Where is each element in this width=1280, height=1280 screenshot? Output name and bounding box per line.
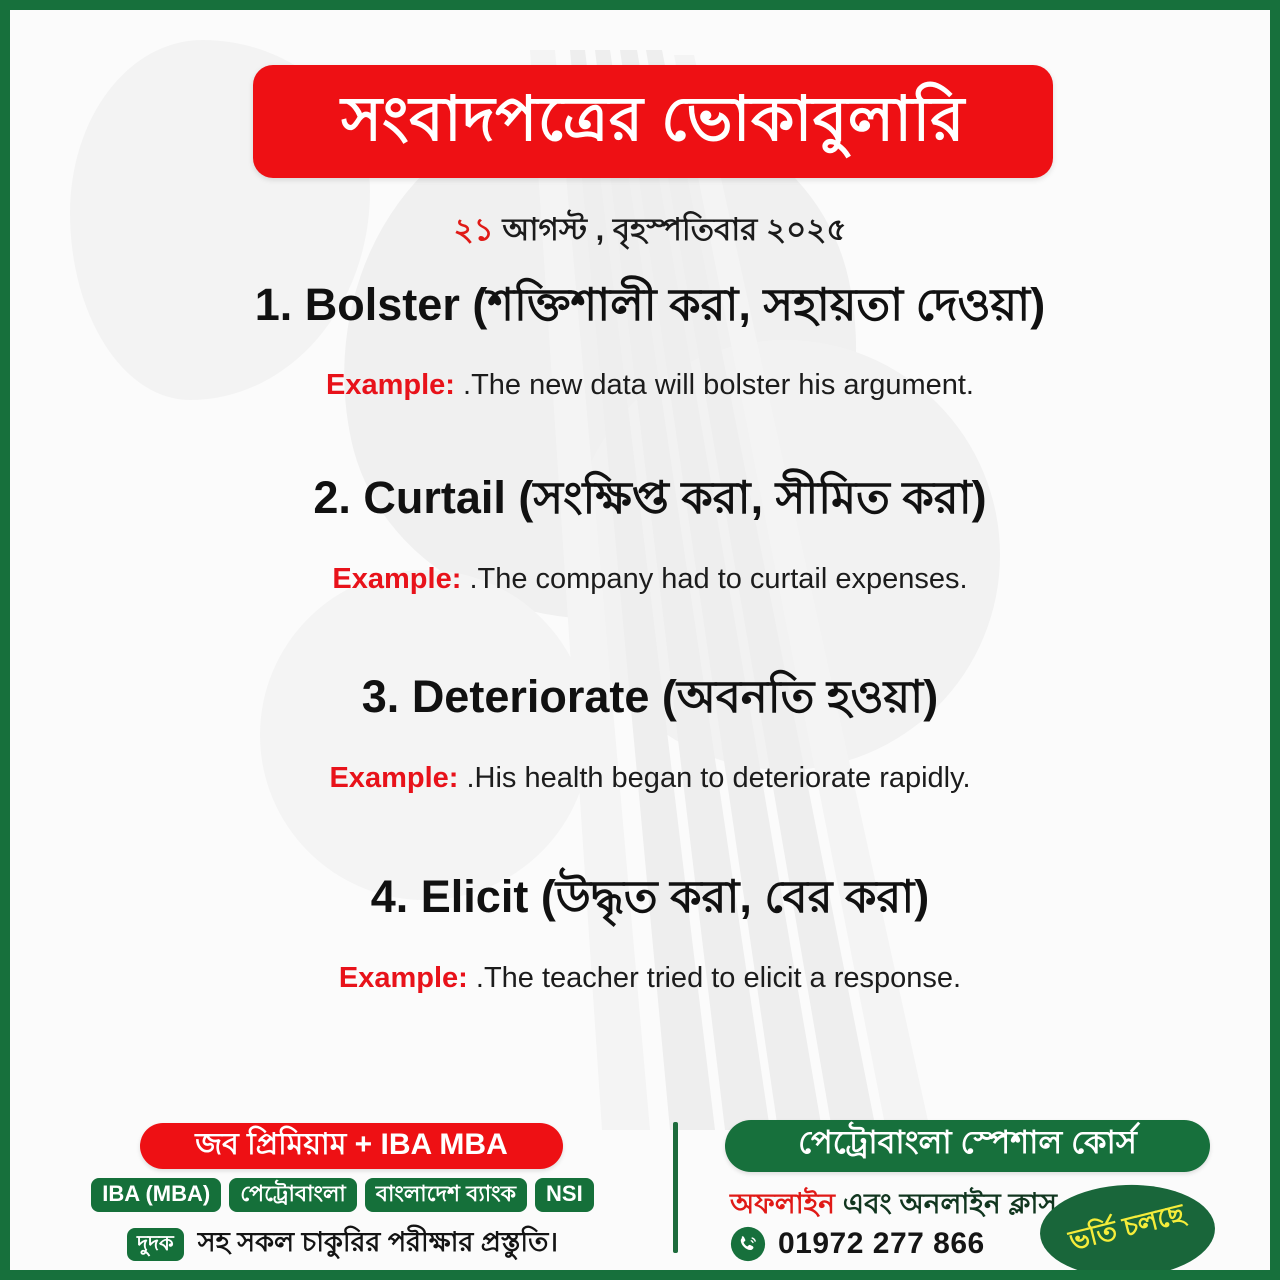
exam-tag[interactable]: NSI — [535, 1178, 594, 1212]
exam-tag-row-1: IBA (MBA) পেট্রোবাংলা বাংলাদেশ ব্যাংক NS… — [20, 1178, 665, 1212]
title-banner: সংবাদপত্রের ভোকাবুলারি — [253, 65, 1053, 178]
phone-row[interactable]: 01972 277 866 — [730, 1226, 985, 1262]
example-label: Example: — [326, 369, 455, 401]
date-line: ২১ আগস্ট , বৃহস্পতিবার ২০২৫ — [10, 206, 1280, 258]
admission-badge-label: ভর্তি চলছে — [1065, 1193, 1190, 1265]
example-text: .The new data will bolster his argument. — [463, 369, 974, 401]
poster-canvas: সংবাদপত্রের ভোকাবুলারি ২১ আগস্ট , বৃহস্প… — [0, 0, 1280, 1280]
vocabulary-entry: 2. Curtail (সংক্ষিপ্ত করা, সীমিত করা) Ex… — [10, 471, 1280, 597]
footer: জব প্রিমিয়াম + IBA MBA IBA (MBA) পেট্রো… — [10, 1110, 1280, 1280]
vocabulary-heading: 2. Curtail (সংক্ষিপ্ত করা, সীমিত করা) — [10, 471, 1280, 524]
exam-tag[interactable]: বাংলাদেশ ব্যাংক — [365, 1178, 527, 1212]
date-number: ২১ — [453, 212, 493, 247]
special-course-pill[interactable]: পেট্রোবাংলা স্পেশাল কোর্স — [725, 1120, 1210, 1172]
vocabulary-heading: 1. Bolster (শক্তিশালী করা, সহায়তা দেওয়… — [10, 278, 1280, 331]
vocabulary-example: Example: .His health began to deteriorat… — [10, 761, 1280, 796]
class-mode-rest: এবং অনলাইন ক্লাস — [843, 1188, 1057, 1219]
footer-divider — [673, 1122, 678, 1253]
special-course-label: পেট্রোবাংলা স্পেশাল কোর্স — [798, 1117, 1137, 1171]
vocabulary-heading: 4. Elicit (উদ্ধৃত করা, বের করা) — [10, 870, 1280, 923]
example-text: .His health began to deteriorate rapidly… — [466, 762, 970, 794]
job-premium-pill[interactable]: জব প্রিমিয়াম + IBA MBA — [140, 1123, 563, 1169]
vocabulary-example: Example: .The new data will bolster his … — [10, 368, 1280, 403]
example-text: .The company had to curtail expenses. — [469, 563, 967, 595]
example-label: Example: — [329, 762, 458, 794]
admission-badge: ভর্তি চলছে — [1038, 1182, 1216, 1280]
job-premium-label: জব প্রিমিয়াম + IBA MBA — [195, 1120, 508, 1171]
phone-number: 01972 277 866 — [778, 1227, 985, 1261]
exam-tag[interactable]: IBA (MBA) — [91, 1178, 221, 1212]
vocabulary-entry: 4. Elicit (উদ্ধৃত করা, বের করা) Example:… — [10, 870, 1280, 996]
date-rest: আগস্ট , বৃহস্পতিবার ২০২৫ — [502, 212, 846, 247]
vocabulary-heading: 3. Deteriorate (অবনতি হওয়া) — [10, 670, 1280, 723]
vocabulary-entry: 1. Bolster (শক্তিশালী করা, সহায়তা দেওয়… — [10, 278, 1280, 403]
page-title: সংবাদপত্রের ভোকাবুলারি — [341, 89, 965, 151]
exam-tail-text: সহ সকল চাকুরির পরীক্ষার প্রস্তুতি। — [198, 1222, 558, 1267]
exam-tag[interactable]: পেট্রোবাংলা — [229, 1178, 357, 1212]
phone-call-icon — [730, 1226, 766, 1262]
class-mode-line: অফলাইন এবং অনলাইন ক্লাস — [730, 1182, 1057, 1229]
vocabulary-entry: 3. Deteriorate (অবনতি হওয়া) Example: .H… — [10, 670, 1280, 796]
vocabulary-example: Example: .The company had to curtail exp… — [10, 562, 1280, 597]
class-mode-offline: অফলাইন — [730, 1188, 835, 1219]
example-text: .The teacher tried to elicit a response. — [476, 962, 961, 994]
exam-tag[interactable]: দুদক — [127, 1228, 184, 1261]
vocabulary-example: Example: .The teacher tried to elicit a … — [10, 961, 1280, 996]
vocabulary-list: 1. Bolster (শক্তিশালী করা, সহায়তা দেওয়… — [10, 278, 1280, 996]
example-label: Example: — [332, 563, 461, 595]
example-label: Example: — [339, 962, 468, 994]
exam-tag-row-2: দুদক সহ সকল চাকুরির পরীক্ষার প্রস্তুতি। — [20, 1222, 665, 1267]
